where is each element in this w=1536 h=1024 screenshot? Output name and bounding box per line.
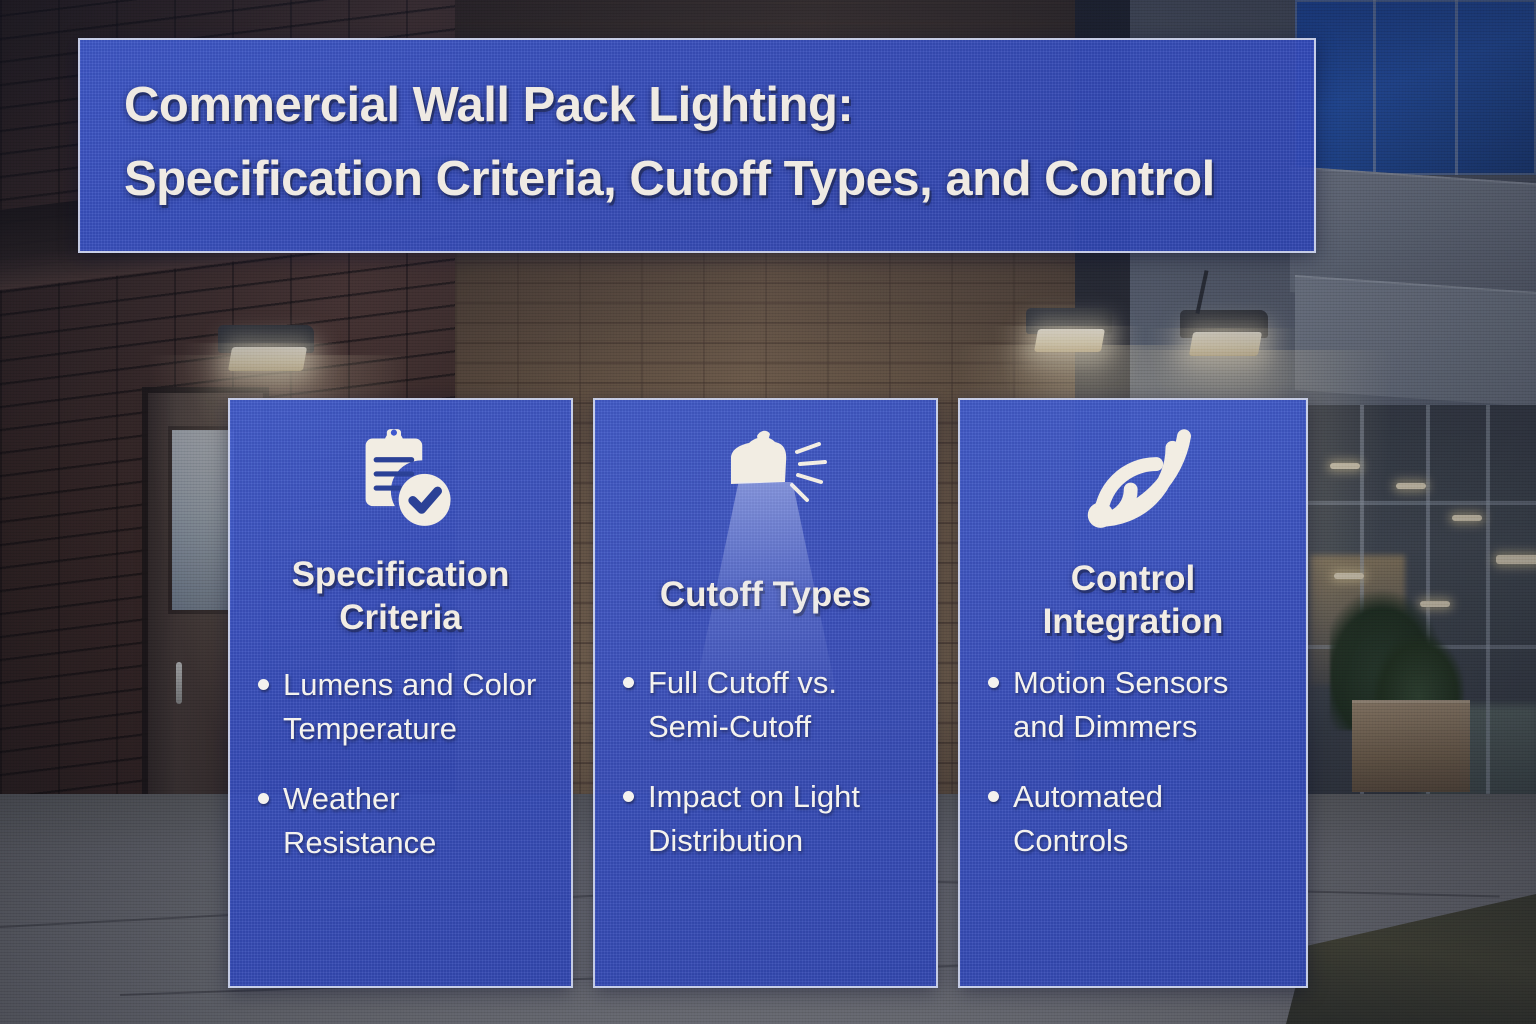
- list-item: Lumens and Color Temperature: [252, 663, 549, 751]
- card-control-integration[interactable]: Control Integration Motion Sensors and D…: [958, 398, 1308, 988]
- page-title-line-2: Specification Criteria, Cutoff Types, an…: [124, 150, 1274, 210]
- wifi-signal-icon: [982, 422, 1284, 548]
- list-item-label: Motion Sensors and Dimmers: [1013, 661, 1284, 749]
- card-title: Control Integration: [1043, 558, 1224, 643]
- list-item-label: Lumens and Color Temperature: [283, 663, 549, 751]
- card-title-line: Criteria: [292, 597, 510, 640]
- bullet-dot-icon: [258, 679, 269, 690]
- card-title-line: Cutoff Types: [660, 574, 871, 617]
- bullet-dot-icon: [988, 677, 999, 688]
- bullet-dot-icon: [258, 793, 269, 804]
- card-cutoff-types[interactable]: Cutoff Types Full Cutoff vs. Semi-Cutoff…: [593, 398, 938, 988]
- bullet-dot-icon: [623, 791, 634, 802]
- card-title-line: Control: [1043, 558, 1224, 601]
- wall-pack-light-icon: [617, 422, 914, 548]
- card-title-line: Specification: [292, 554, 510, 597]
- list-item-label: Full Cutoff vs. Semi-Cutoff: [648, 661, 914, 749]
- bullet-list: Lumens and Color Temperature Weather Res…: [252, 663, 549, 891]
- bullet-dot-icon: [988, 791, 999, 802]
- bullet-list: Full Cutoff vs. Semi-Cutoff Impact on Li…: [617, 661, 914, 889]
- bullet-dot-icon: [623, 677, 634, 688]
- list-item: Impact on Light Distribution: [617, 775, 914, 863]
- list-item: Weather Resistance: [252, 777, 549, 865]
- list-item-label: Automated Controls: [1013, 775, 1284, 863]
- list-item-label: Weather Resistance: [283, 777, 549, 865]
- page-title-line-1: Commercial Wall Pack Lighting:: [124, 76, 1274, 136]
- list-item: Automated Controls: [982, 775, 1284, 863]
- list-item: Full Cutoff vs. Semi-Cutoff: [617, 661, 914, 749]
- card-title: Cutoff Types: [660, 574, 871, 617]
- bullet-list: Motion Sensors and Dimmers Automated Con…: [982, 661, 1284, 889]
- infographic-stage: Commercial Wall Pack Lighting: Specifica…: [0, 0, 1536, 1024]
- clipboard-check-icon: [252, 422, 549, 548]
- list-item: Motion Sensors and Dimmers: [982, 661, 1284, 749]
- card-title-line: Integration: [1043, 601, 1224, 644]
- title-banner: Commercial Wall Pack Lighting: Specifica…: [78, 38, 1316, 253]
- card-title: Specification Criteria: [292, 554, 510, 639]
- card-specification-criteria[interactable]: Specification Criteria Lumens and Color …: [228, 398, 573, 988]
- list-item-label: Impact on Light Distribution: [648, 775, 914, 863]
